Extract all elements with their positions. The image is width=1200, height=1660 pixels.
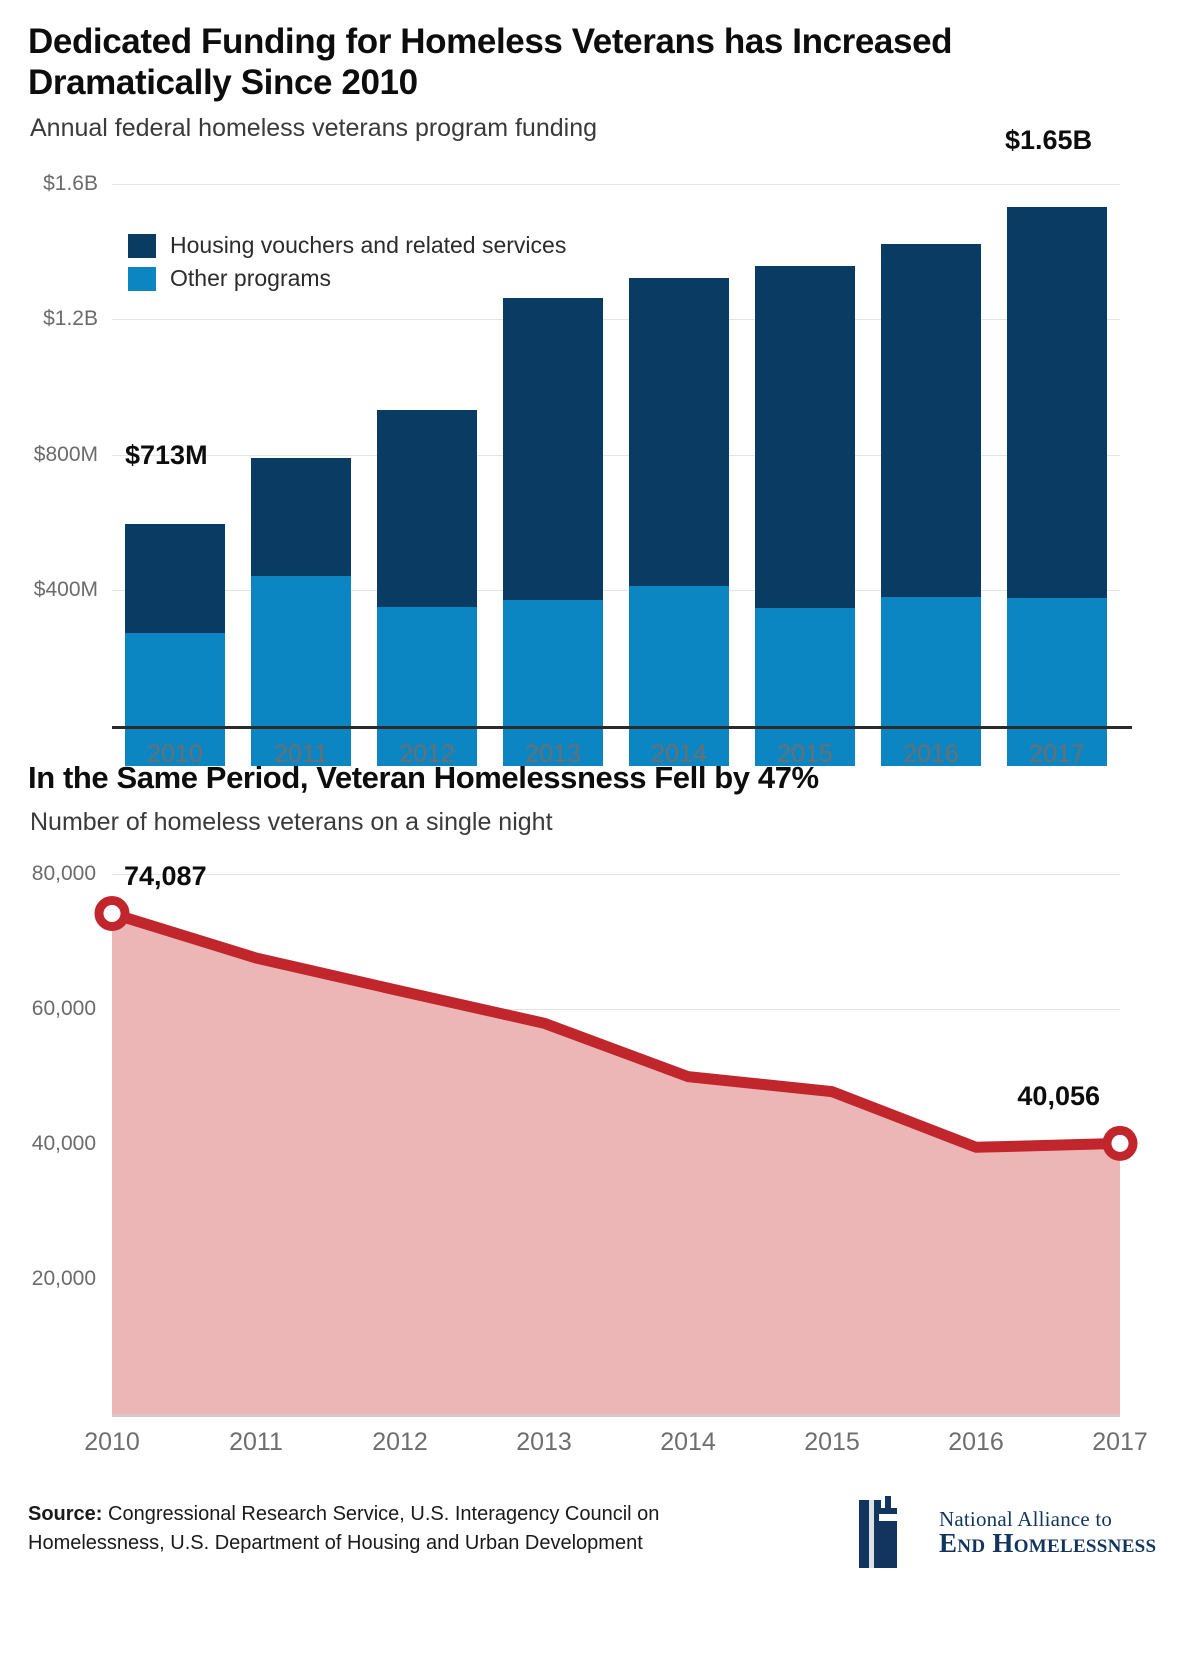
x-axis-tick: [856, 726, 880, 729]
chart1-title: Dedicated Funding for Homeless Veterans …: [28, 22, 1138, 104]
x-axis-tick: [730, 726, 754, 729]
bar-2015: [755, 266, 856, 766]
infographic-page: Dedicated Funding for Homeless Veterans …: [0, 0, 1200, 1660]
bar-2013: [503, 298, 604, 766]
legend-item-other-programs: Other programs: [128, 265, 566, 292]
legend-label: Housing vouchers and related services: [170, 232, 566, 259]
bar-segment-housing-vouchers: [251, 458, 352, 577]
line-value-label-2010: 74,087: [124, 861, 207, 892]
legend-label: Other programs: [170, 265, 331, 292]
bar-2016: [881, 244, 982, 766]
x-axis-label-2015: 2015: [762, 1428, 902, 1457]
bar-segment-housing-vouchers: [881, 244, 982, 596]
logo-line-2: End Homelessness: [939, 1530, 1156, 1558]
bar-2011: [251, 458, 352, 766]
bar-value-label-2017: $1.65B: [1005, 125, 1092, 156]
legend-item-housing-vouchers: Housing vouchers and related services: [128, 232, 566, 259]
data-point-marker-2017: [1107, 1130, 1133, 1156]
data-point-marker-2010: [99, 900, 125, 926]
line-chart-plot: [0, 860, 1200, 1420]
x-axis-tick: [352, 726, 376, 729]
gridline: [112, 184, 1120, 185]
y-axis-label: $800M: [0, 443, 98, 467]
legend-swatch: [128, 267, 156, 291]
x-axis-tick: [1108, 726, 1132, 729]
x-axis-label-2011: 2011: [186, 1428, 326, 1457]
line-chart-x-axis-line: [112, 1414, 1120, 1417]
legend-swatch: [128, 234, 156, 258]
bar-segment-housing-vouchers: [503, 298, 604, 600]
source-label: Source:: [28, 1503, 102, 1525]
chart1-subtitle: Annual federal homeless veterans program…: [30, 114, 597, 143]
bar-segment-housing-vouchers: [755, 266, 856, 608]
x-axis-label-2012: 2012: [330, 1428, 470, 1457]
x-axis-label-2016: 2016: [906, 1428, 1046, 1457]
bar-2010: [125, 524, 226, 766]
y-axis-label: $1.2B: [0, 307, 98, 331]
bar-value-label-2010: $713M: [125, 440, 208, 471]
bar-segment-housing-vouchers: [125, 524, 226, 632]
x-axis-tick: [226, 726, 250, 729]
chart2-subtitle: Number of homeless veterans on a single …: [30, 808, 553, 837]
line-value-label-2017: 40,056: [940, 1081, 1100, 1112]
x-axis-tick: [604, 726, 628, 729]
homeless-veterans-area-chart: 20,00040,00060,00080,000 74,08740,056 20…: [0, 860, 1200, 1420]
bar-2017: [1007, 207, 1108, 766]
x-axis-label-2013: 2013: [474, 1428, 614, 1457]
chart2-title: In the Same Period, Veteran Homelessness…: [28, 760, 1148, 796]
source-note: Source: Congressional Research Service, …: [28, 1500, 728, 1558]
building-icon: [855, 1494, 927, 1572]
bar-segment-housing-vouchers: [377, 410, 478, 607]
x-axis-tick: [478, 726, 502, 729]
x-axis-label-2010: 2010: [42, 1428, 182, 1457]
x-axis-tick: [982, 726, 1006, 729]
x-axis-label-2017: 2017: [1050, 1428, 1190, 1457]
area-fill: [112, 914, 1120, 1415]
bar-2012: [377, 410, 478, 766]
bar-2014: [629, 278, 730, 766]
y-axis-label: $400M: [0, 578, 98, 602]
bar-segment-other-programs: [251, 576, 352, 766]
bar-chart-legend: Housing vouchers and related servicesOth…: [128, 232, 566, 298]
y-axis-label: $1.6B: [0, 172, 98, 196]
x-axis-label-2014: 2014: [618, 1428, 758, 1457]
bar-segment-housing-vouchers: [629, 278, 730, 586]
source-text: Congressional Research Service, U.S. Int…: [28, 1503, 659, 1554]
bar-segment-housing-vouchers: [1007, 207, 1108, 598]
logo-wordmark: National Alliance to End Homelessness: [939, 1509, 1156, 1558]
organization-logo: National Alliance to End Homelessness: [855, 1488, 1175, 1578]
logo-line-1: National Alliance to: [939, 1509, 1156, 1530]
